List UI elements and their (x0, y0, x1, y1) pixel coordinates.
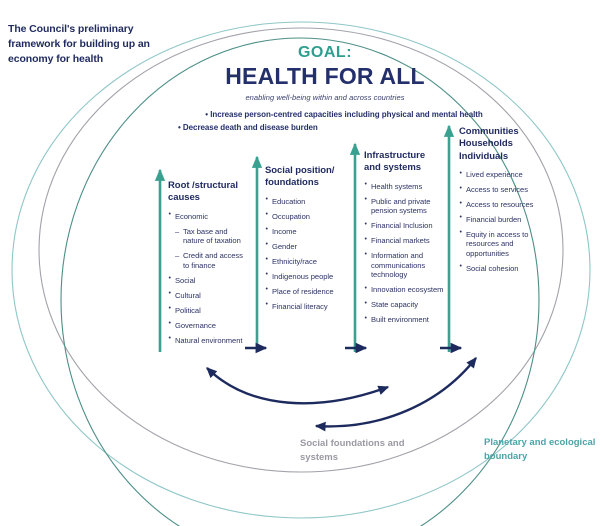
list-item: Social cohesion (459, 264, 549, 273)
social-foundations-label: Social foundations and systems (300, 437, 430, 465)
goal-label: GOAL: (160, 44, 490, 62)
list-item: Ethnicity/race (265, 257, 347, 266)
list-item: Access to resources (459, 200, 549, 209)
column-heading: Infrastructure and systems (364, 150, 444, 175)
list-item: Financial markets (364, 236, 444, 245)
list-item: Equity in access to resources and opport… (459, 230, 549, 258)
planetary-boundary-label: Planetary and ecological boundary (484, 436, 596, 464)
column-social-position-foundations: Social position/ foundations EducationOc… (265, 165, 347, 317)
column-item-list: Health systemsPublic and private pension… (364, 182, 444, 325)
goal-subtitle: enabling well-being within and across co… (160, 93, 490, 102)
list-item: Tax base and nature of taxation (168, 227, 246, 246)
list-item: Indigenous people (265, 272, 347, 281)
column-heading: Communities Households Individuals (459, 126, 549, 163)
list-item: Governance (168, 321, 246, 330)
column-item-list: EconomicTax base and nature of taxationC… (168, 212, 246, 345)
feedback-arrow-right (316, 358, 476, 426)
column-heading: Root /structural causes (168, 180, 246, 205)
column-infrastructure-and-systems: Infrastructure and systems Health system… (364, 150, 444, 330)
list-item: Economic (168, 212, 246, 221)
list-item: Credit and access to finance (168, 251, 246, 270)
goal-bullet-list: • Increase person-centred capacities inc… (160, 109, 490, 135)
list-item: Built environment (364, 315, 444, 324)
list-item: Lived experience (459, 170, 549, 179)
list-item: Income (265, 227, 347, 236)
list-item: Natural environment (168, 336, 246, 345)
goal-bullet-1: • Increase person-centred capacities inc… (160, 109, 490, 122)
list-item: Information and communications technolog… (364, 251, 444, 279)
feedback-arrow-left (207, 368, 388, 403)
column-root-structural-causes: Root /structural causes EconomicTax base… (168, 180, 246, 351)
column-item-list: Lived experienceAccess to servicesAccess… (459, 170, 549, 273)
list-item: Place of residence (265, 287, 347, 296)
list-item: Education (265, 197, 347, 206)
column-communities-households-individuals: Communities Households Individuals Lived… (459, 126, 549, 279)
list-item: Financial literacy (265, 302, 347, 311)
list-item: Cultural (168, 291, 246, 300)
list-item: Political (168, 306, 246, 315)
diagram-canvas: The Council's preliminary framework for … (0, 0, 602, 526)
list-item: Financial burden (459, 215, 549, 224)
list-item: Innovation ecosystem (364, 285, 444, 294)
list-item: Health systems (364, 182, 444, 191)
framework-title: The Council's preliminary framework for … (8, 22, 168, 68)
list-item: Financial Inclusion (364, 221, 444, 230)
goal-block: GOAL: HEALTH FOR ALL enabling well-being… (160, 44, 490, 135)
goal-headline: HEALTH FOR ALL (160, 63, 490, 89)
list-item: Public and private pension systems (364, 197, 444, 216)
column-heading: Social position/ foundations (265, 165, 347, 190)
list-item: State capacity (364, 300, 444, 309)
column-item-list: EducationOccupationIncomeGenderEthnicity… (265, 197, 347, 311)
list-item: Access to services (459, 185, 549, 194)
goal-bullet-2: • Decrease death and disease burden (178, 122, 490, 135)
list-item: Social (168, 276, 246, 285)
list-item: Gender (265, 242, 347, 251)
list-item: Occupation (265, 212, 347, 221)
